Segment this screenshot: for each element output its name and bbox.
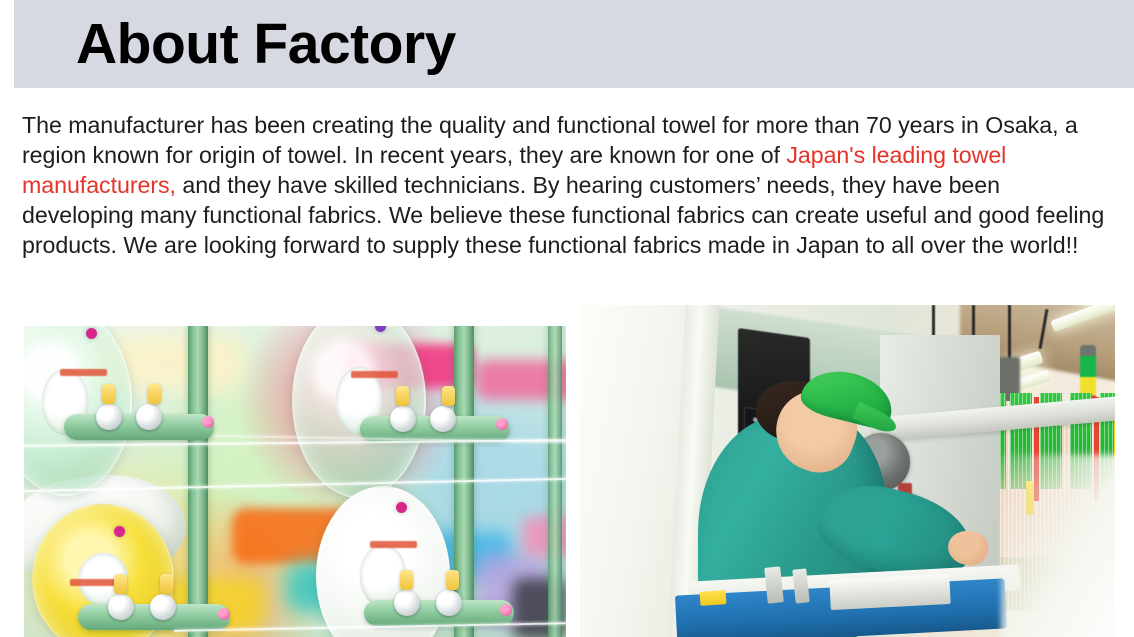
tension-knob-3 bbox=[396, 386, 409, 406]
yarn-spool-machine-photo bbox=[24, 326, 566, 637]
about-factory-page: About Factory The manufacturer has been … bbox=[0, 0, 1134, 637]
tension-roller-6 bbox=[150, 594, 176, 620]
tension-knob-1 bbox=[102, 384, 115, 404]
tension-cap-1 bbox=[202, 416, 214, 428]
machine-post-1 bbox=[188, 326, 208, 637]
tension-knob-4 bbox=[442, 386, 455, 406]
spool-marker-dot bbox=[375, 326, 386, 332]
spool-marker-dot bbox=[396, 502, 407, 513]
tension-cap-2 bbox=[496, 418, 508, 430]
machine-post-3 bbox=[548, 326, 562, 637]
spool-label bbox=[370, 541, 417, 548]
tension-roller-3 bbox=[390, 406, 416, 432]
spool-marker-dot bbox=[86, 328, 97, 339]
tension-knob-2 bbox=[148, 384, 161, 404]
paragraph-part-3: and they have skilled technicians. By he… bbox=[22, 172, 1104, 258]
tension-cap-3 bbox=[218, 608, 230, 620]
tension-roller-1 bbox=[96, 404, 122, 430]
hanging-cable-3 bbox=[1008, 305, 1011, 363]
tension-roller-2 bbox=[136, 404, 162, 430]
loom-yellow-marker-1 bbox=[700, 590, 727, 606]
spool-label bbox=[70, 579, 120, 586]
tension-knob-5 bbox=[114, 574, 127, 594]
tension-knob-6 bbox=[160, 574, 173, 594]
photo-row bbox=[0, 326, 1134, 637]
tension-roller-4 bbox=[430, 406, 456, 432]
spool-label bbox=[351, 371, 398, 378]
tension-knob-7 bbox=[400, 570, 413, 590]
tension-roller-7 bbox=[394, 590, 420, 616]
tension-knob-8 bbox=[446, 570, 459, 590]
tension-roller-5 bbox=[108, 594, 134, 620]
tension-roller-8 bbox=[436, 590, 462, 616]
factory-worker-loom-photo bbox=[580, 305, 1115, 637]
page-header-band: About Factory bbox=[14, 0, 1134, 88]
spool-label bbox=[60, 369, 107, 376]
page-title: About Factory bbox=[76, 7, 456, 81]
loom-shuttle-parts bbox=[829, 574, 950, 610]
foreground-machine-blur bbox=[1001, 455, 1115, 637]
about-factory-paragraph: The manufacturer has been creating the q… bbox=[22, 110, 1114, 260]
spool-marker-dot bbox=[114, 526, 125, 537]
tension-cap-4 bbox=[500, 604, 512, 616]
